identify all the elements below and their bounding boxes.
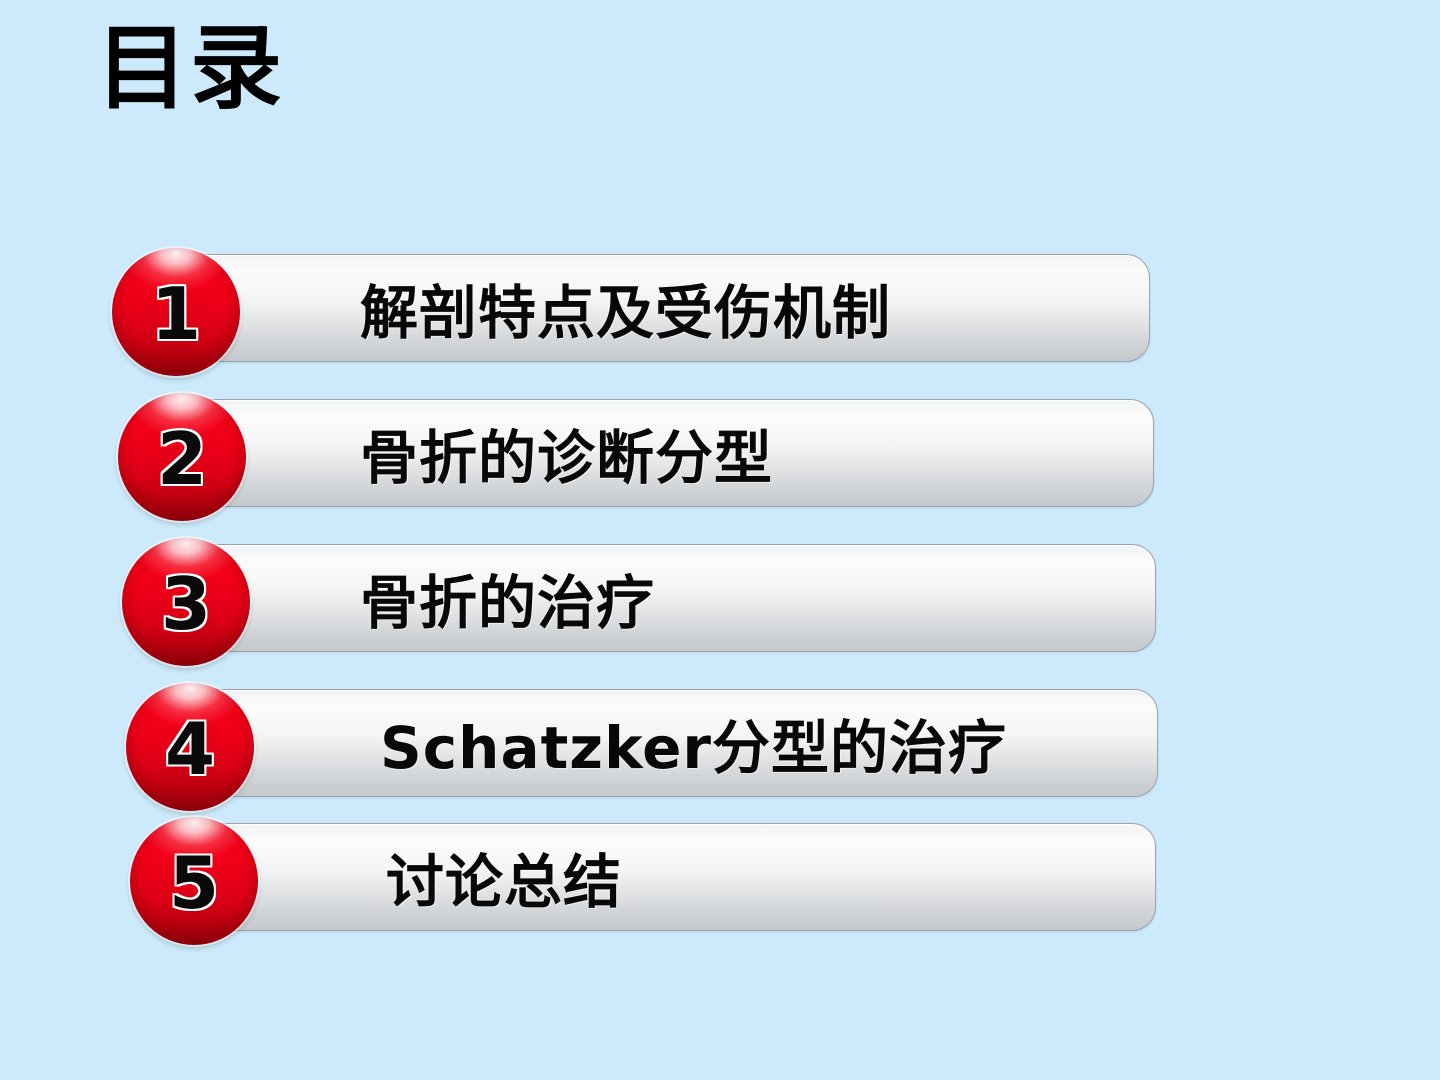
toc-number-label: 3 xyxy=(161,568,211,640)
toc-number-badge: 1 xyxy=(112,248,240,376)
toc-number-badge: 5 xyxy=(130,817,258,945)
toc-item-label: 讨论总结 xyxy=(386,823,1176,931)
toc-item-4[interactable]: 4 Schatzker分型的治疗 xyxy=(0,683,1440,813)
toc-item-label: 骨折的诊断分型 xyxy=(360,399,1150,507)
toc-item-label: 骨折的治疗 xyxy=(360,544,1150,652)
toc-number-label: 1 xyxy=(151,278,201,350)
toc-item-1[interactable]: 1 解剖特点及受伤机制 xyxy=(0,248,1440,378)
toc-item-label: 解剖特点及受伤机制 xyxy=(360,254,1150,362)
toc-number-badge: 3 xyxy=(122,538,250,666)
toc-item-2[interactable]: 2 骨折的诊断分型 xyxy=(0,393,1440,523)
toc-number-label: 4 xyxy=(165,713,215,785)
toc-number-label: 2 xyxy=(157,423,207,495)
toc-item-label: Schatzker分型的治疗 xyxy=(380,689,1170,797)
slide-canvas: 目录 1 解剖特点及受伤机制 2 骨折的诊断分型 3 骨折的治疗 xyxy=(0,0,1440,1080)
toc-item-3[interactable]: 3 骨折的治疗 xyxy=(0,538,1440,668)
toc-number-badge: 2 xyxy=(118,393,246,521)
toc-number-badge: 4 xyxy=(126,683,254,811)
table-of-contents: 1 解剖特点及受伤机制 2 骨折的诊断分型 3 骨折的治疗 4 Schatzke… xyxy=(0,0,1440,1080)
toc-item-5[interactable]: 5 讨论总结 xyxy=(0,817,1440,947)
toc-number-label: 5 xyxy=(169,847,219,919)
